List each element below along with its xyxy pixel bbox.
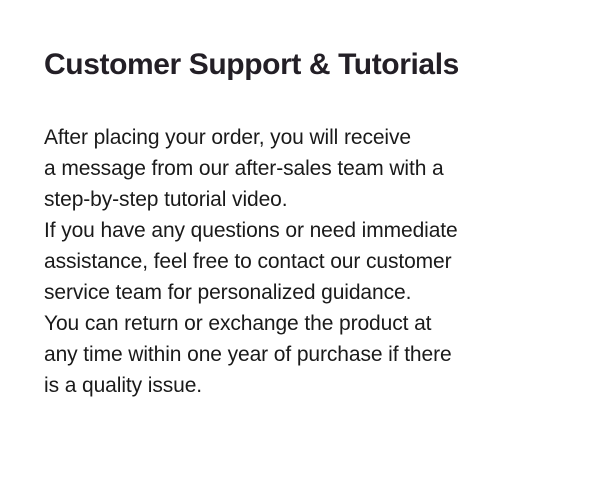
paragraph-line: If you have any questions or need immedi… [44,215,574,246]
paragraph-order-confirmation: After placing your order, you will recei… [44,122,574,215]
paragraph-line: a message from our after-sales team with… [44,153,574,184]
paragraph-line: step-by-step tutorial video. [44,184,574,215]
paragraph-line: After placing your order, you will recei… [44,122,574,153]
content-container: Customer Support & Tutorials After placi… [44,46,574,401]
page-title: Customer Support & Tutorials [44,46,574,84]
paragraph-line: is a quality issue. [44,370,574,401]
paragraph-return-policy: You can return or exchange the product a… [44,308,574,401]
support-info-panel: Customer Support & Tutorials After placi… [0,0,600,493]
paragraph-line: any time within one year of purchase if … [44,339,574,370]
paragraph-line: assistance, feel free to contact our cus… [44,246,574,277]
paragraph-contact-support: If you have any questions or need immedi… [44,215,574,308]
body-text-block: After placing your order, you will recei… [44,122,574,401]
paragraph-line: service team for personalized guidance. [44,277,574,308]
paragraph-line: You can return or exchange the product a… [44,308,574,339]
